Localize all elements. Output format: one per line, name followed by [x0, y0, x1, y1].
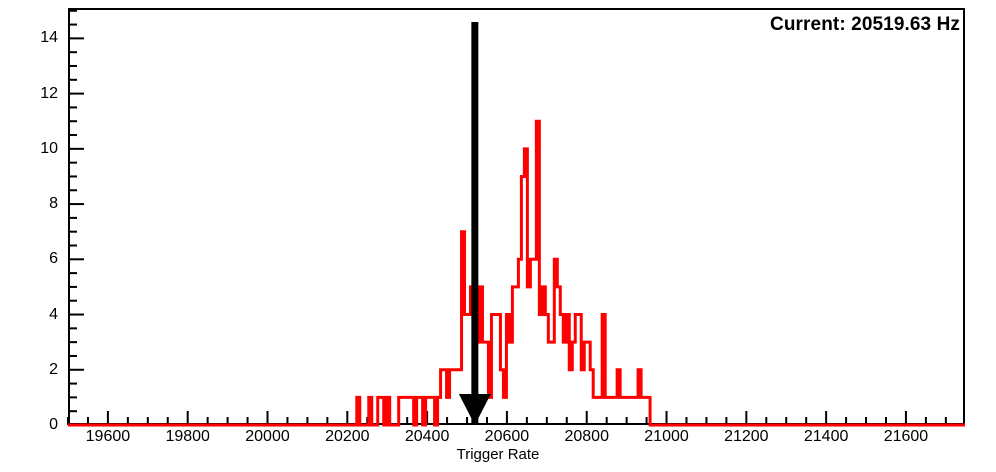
y-tick-label: 8: [30, 195, 58, 213]
y-tick-label: 6: [30, 250, 58, 268]
x-tick-label: 21600: [884, 428, 929, 446]
y-tick-label: 12: [30, 85, 58, 103]
x-tick-label: 21400: [804, 428, 849, 446]
plot-frame: [68, 8, 965, 425]
y-tick-label: 2: [30, 361, 58, 379]
x-tick-label: 21000: [644, 428, 689, 446]
x-axis-title: Trigger Rate: [0, 446, 996, 463]
x-tick-label: 20000: [245, 428, 290, 446]
x-tick-label: 21200: [724, 428, 769, 446]
x-tick-label: 20400: [405, 428, 450, 446]
current-rate-readout: Current: 20519.63 Hz: [770, 14, 960, 36]
y-tick-label: 4: [30, 306, 58, 324]
x-tick-label: 19600: [86, 428, 131, 446]
y-tick-label: 14: [30, 29, 58, 47]
x-tick-label: 19800: [165, 428, 210, 446]
y-tick-label: 0: [30, 416, 58, 434]
x-tick-label: 20800: [564, 428, 609, 446]
x-tick-label: 20200: [325, 428, 370, 446]
x-tick-label: 20600: [485, 428, 530, 446]
chart-canvas: Current: 20519.63 Hz Trigger Rate 196001…: [0, 0, 996, 472]
y-tick-label: 10: [30, 140, 58, 158]
